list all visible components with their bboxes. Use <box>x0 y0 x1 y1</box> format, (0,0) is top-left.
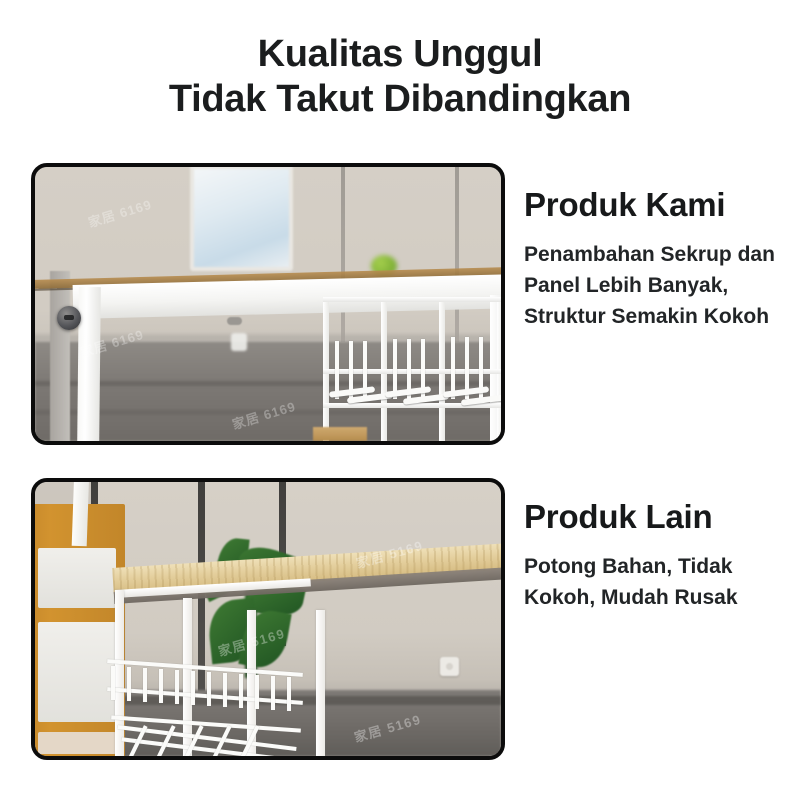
photo1-front-left-leg <box>77 287 101 441</box>
photo2-basket-wire <box>271 676 275 710</box>
photo2-basket-wire <box>143 668 147 702</box>
photo1-screw-bolt <box>57 306 81 330</box>
photo2-shelf-book <box>72 482 90 546</box>
page-title-line-1: Kualitas Unggul <box>0 32 800 77</box>
comparison-row-other-product: 家居 5169 家居 5169 家居 5169 Produk Lain Poto… <box>0 478 800 763</box>
section-title-other-product: Produk Lain <box>524 498 796 536</box>
page-title-line-2: Tidak Takut Dibandingkan <box>0 77 800 122</box>
photo2-wall-outlet <box>440 657 459 676</box>
photo2-shelf-panel <box>38 622 116 722</box>
copy-block-other-product: Produk Lain Potong Bahan, Tidak Kokoh, M… <box>524 498 796 613</box>
photo2-basket-wire <box>255 675 259 709</box>
photo-canvas-our-product: 家居 6169 家居 6169 家居 6169 <box>35 167 501 441</box>
photo2-basket-wire <box>191 671 195 705</box>
photo2-basket-wire <box>207 672 211 706</box>
photo2-basket-wire <box>175 670 179 704</box>
section-title-our-product: Produk Kami <box>524 186 796 224</box>
photo2-basket-top-rail <box>107 659 303 677</box>
photo2-basket-wire <box>287 677 291 711</box>
product-photo-our-product: 家居 6169 家居 6169 家居 6169 <box>31 163 505 445</box>
photo2-leg-right <box>316 610 325 756</box>
photo2-basket-wire <box>239 674 243 708</box>
section-body-our-product: Penambahan Sekrup dan Panel Lebih Banyak… <box>524 239 796 332</box>
photo2-basket-wire <box>111 666 115 700</box>
photo1-wood-stool <box>313 427 367 441</box>
photo1-rear-leg <box>50 271 70 441</box>
copy-block-our-product: Produk Kami Penambahan Sekrup dan Panel … <box>524 186 796 332</box>
photo1-wire-rack <box>323 297 501 441</box>
photo1-rack-rail-top <box>323 297 501 302</box>
photo2-shelf-panel <box>38 732 116 754</box>
section-body-other-product: Potong Bahan, Tidak Kokoh, Mudah Rusak <box>524 551 796 613</box>
photo2-wire-basket <box>107 660 307 756</box>
photo2-basket-floor-wire <box>182 725 203 756</box>
photo1-wall-outlet <box>231 333 247 351</box>
photo-canvas-other-product: 家居 5169 家居 5169 家居 5169 <box>35 482 501 756</box>
photo2-basket-wire <box>223 673 227 707</box>
photo1-fastener-knob <box>227 317 242 325</box>
photo2-basket-wire <box>127 667 131 701</box>
photo2-basket-wire <box>159 669 163 703</box>
photo2-shelf-panel <box>38 548 116 608</box>
product-photo-other-product: 家居 5169 家居 5169 家居 5169 <box>31 478 505 760</box>
comparison-row-our-product: 家居 6169 家居 6169 家居 6169 Produk Kami Pena… <box>0 163 800 448</box>
page-title: Kualitas Unggul Tidak Takut Dibandingkan <box>0 32 800 122</box>
